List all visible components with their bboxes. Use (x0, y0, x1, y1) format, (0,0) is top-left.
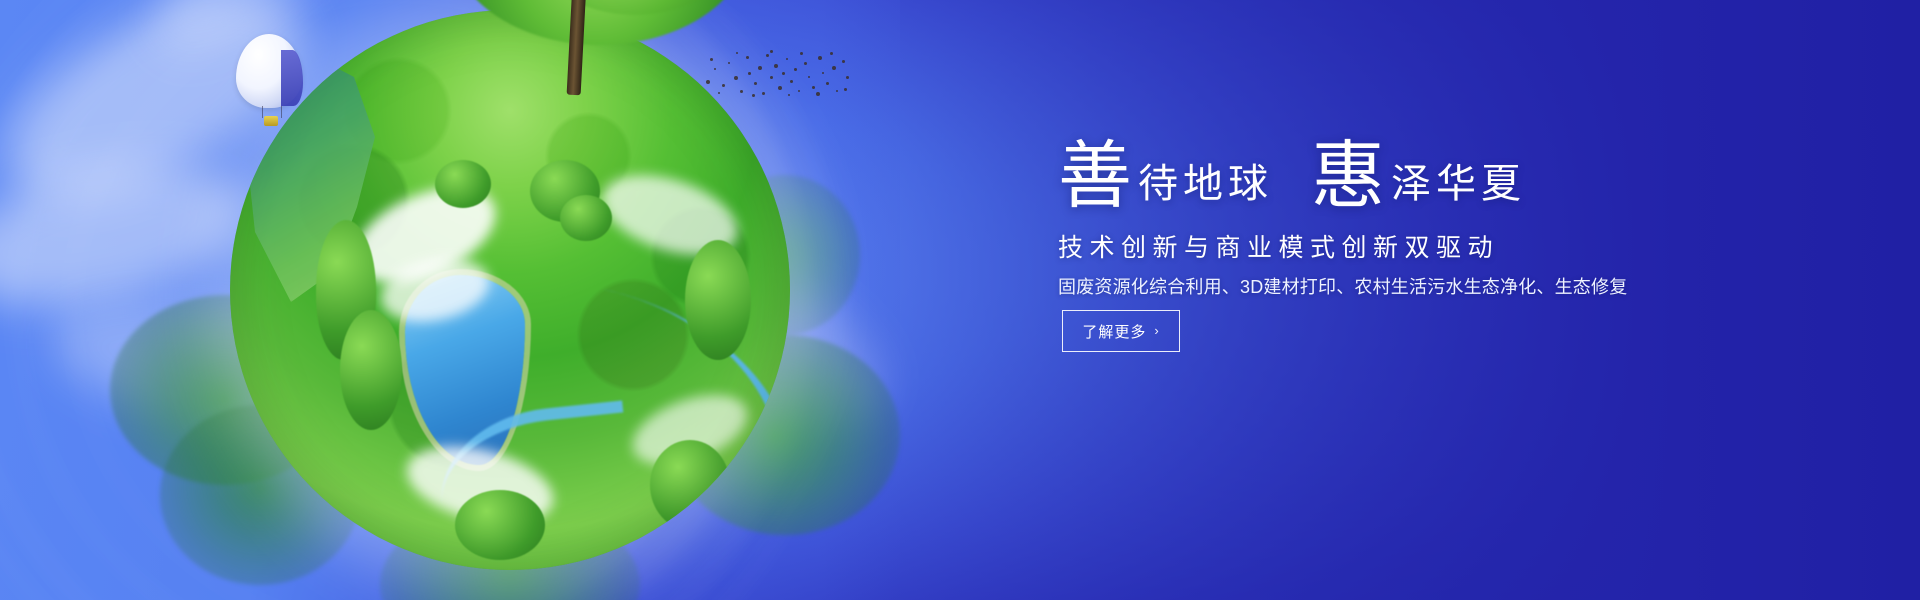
headline-part2-large: 惠 (1311, 140, 1385, 214)
page-title: 善待地球惠泽华夏 (1058, 140, 1698, 236)
hero-banner: 善待地球惠泽华夏 技术创新与商业模式创新双驱动 固废资源化综合利用、3D建材打印… (0, 0, 1920, 600)
lake-icon (405, 275, 525, 465)
headline-part1-small: 待地球 (1138, 164, 1273, 204)
banner-tagline: 固废资源化综合利用、3D建材打印、农村生活污水生态净化、生态修复 (1058, 273, 1627, 299)
learn-more-label: 了解更多 (1082, 321, 1146, 342)
hot-air-balloon-icon (236, 34, 306, 134)
learn-more-button[interactable]: 了解更多 › (1062, 310, 1180, 352)
headline-part1-large: 善 (1058, 140, 1132, 214)
banner-copy-block: 善待地球惠泽华夏 技术创新与商业模式创新双驱动 固废资源化综合利用、3D建材打印… (1058, 0, 1698, 600)
headline-part2-small: 泽华夏 (1391, 164, 1526, 204)
river-icon (460, 269, 790, 561)
chevron-right-icon: › (1154, 323, 1159, 338)
river-branch-icon (433, 400, 637, 561)
banner-subtitle: 技术创新与商业模式创新双驱动 (1058, 228, 1499, 264)
bird-flock-icon (700, 46, 850, 98)
